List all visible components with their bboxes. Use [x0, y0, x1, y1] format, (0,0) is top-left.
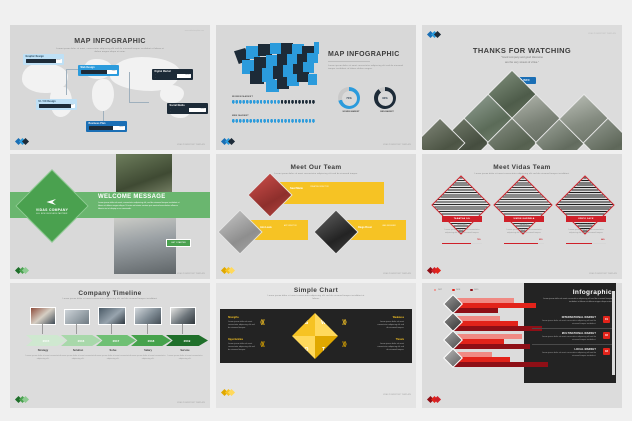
- timeline-year: 2018: [148, 339, 155, 343]
- brand-logo: [222, 389, 238, 396]
- team-desc-1: Lorem ipsum dolor sit amet consectetur a…: [442, 229, 482, 235]
- swot-opportunities-desc: Lorem ipsum dolor sit amet consectetur a…: [228, 343, 256, 353]
- timeline-desc-1: Lorem ipsum dolor sit amet consectetur a…: [24, 355, 62, 361]
- slide-meet-vidas-team[interactable]: Meet Vidas Team Lorem ipsum dolor sit am…: [422, 154, 622, 279]
- timeline-photo-2: [64, 309, 90, 325]
- timeline-label-4: Salary: [129, 349, 167, 352]
- slide-meet-our-team[interactable]: Meet Our Team Lorem ipsum dolor sit amet…: [216, 154, 416, 279]
- timeline-arrow-2016[interactable]: 2016: [61, 335, 101, 346]
- welcome-title: WELCOME MESSAGE: [98, 194, 184, 200]
- member-photo-3: [313, 209, 358, 254]
- legend-label: 2018: [456, 289, 460, 291]
- team-role-1: DESIGNER: [442, 224, 482, 226]
- swot-threats-desc: Lorem ipsum dolor sit amet consectetur a…: [376, 343, 404, 353]
- slide-topright-note: www.vidastemplate.com: [185, 30, 204, 32]
- timeline-desc-3: Lorem ipsum dolor sit amet consectetur a…: [94, 355, 132, 361]
- map-tag-bar: 68%: [89, 126, 125, 129]
- welcome-body: Lorem ipsum dolor sit amet, consectetur …: [98, 202, 184, 212]
- donut-label: MEN MARKET: [374, 111, 400, 114]
- chevron-right-icon: ⟩⟩⟩: [342, 319, 346, 326]
- chevron-right-icon: ⟩⟩⟩: [342, 341, 346, 348]
- timeline-label-3: Solve: [94, 349, 132, 352]
- page-title: MAP INFOGRAPHIC: [328, 51, 400, 58]
- team-role-2: MANAGER: [504, 224, 544, 226]
- map-tag-business-plan[interactable]: Business Plan 68%: [86, 121, 127, 132]
- map-tag-value: 55%: [200, 108, 204, 110]
- get-started-button-wrap: GET STARTED: [166, 230, 191, 248]
- timeline-year: 2019: [184, 339, 191, 343]
- market-title-3: LOCAL MARKET: [532, 348, 596, 351]
- connector: [147, 324, 148, 334]
- page-subtitle: Lorem ipsum dolor sit amet consectetur a…: [52, 298, 168, 301]
- slide-credit: VIDAS POWERPOINT TEMPLATE: [177, 273, 205, 275]
- brand-logo: [222, 267, 238, 274]
- map-tag-bar: 62%: [155, 74, 191, 77]
- member-name-1: Saul Marie: [290, 187, 303, 190]
- stat-dots: [232, 119, 315, 124]
- quote-line-2: are the very sinews of virtue.": [422, 61, 622, 64]
- page-title: Meet Vidas Team: [422, 164, 622, 171]
- page-title: Simple Chart: [216, 287, 416, 294]
- company-tagline: ALL NEW BUSINESS PARTNER: [36, 213, 67, 215]
- slide-infographic[interactable]: 2017 2018 2019: [422, 283, 622, 408]
- map-tag-label: UI / UX Design: [39, 101, 75, 103]
- stat-label: WOMEN MARKET: [232, 96, 315, 98]
- stat-men-market: MEN MARKET: [232, 115, 315, 123]
- slide-welcome-message[interactable]: VIDAS COMPANY ALL NEW BUSINESS PARTNER W…: [10, 154, 210, 279]
- member-role-1: CREATIVE DIRECTOR: [310, 186, 380, 189]
- team-name-1: TABATHA GIL: [442, 216, 482, 222]
- page-subtitle: Lorem ipsum dolor sit amet consectetur a…: [534, 298, 612, 304]
- market-desc-2: Lorem ipsum dolor sit amet consectetur a…: [534, 336, 596, 342]
- stat-dots: [232, 100, 315, 105]
- timeline-arrow-2018[interactable]: 2018: [131, 335, 171, 346]
- member-name-2: Ann Louis: [260, 226, 272, 229]
- chevron-left-icon: ⟨⟨⟨: [260, 341, 264, 348]
- get-started-button[interactable]: GET STARTED: [166, 239, 191, 247]
- map-tag-value: 74%: [111, 70, 115, 72]
- page-subtitle: Lorem ipsum dolor sit amet consectetur a…: [328, 65, 404, 72]
- map-tag-bar: 91%: [39, 104, 75, 107]
- swot-strengths-desc: Lorem ipsum dolor sit amet consectetur a…: [228, 321, 256, 331]
- market-number-3: 03: [603, 348, 610, 355]
- slide-thanks-for-watching[interactable]: VIDAS POWERPOINT TEMPLATE THANKS FOR WAT…: [422, 25, 622, 150]
- timeline-label-1: Strategy: [24, 349, 62, 352]
- leader-line: [129, 72, 130, 102]
- map-tag-ui-ux-design[interactable]: UI / UX Design 91%: [36, 99, 77, 110]
- page-title: MAP INFOGRAPHIC: [10, 38, 210, 45]
- member-role-2: ART DIRECTOR: [284, 225, 306, 228]
- leader-line: [66, 69, 67, 95]
- timeline-year: 2016: [78, 339, 85, 343]
- map-tag-value: 68%: [119, 126, 123, 128]
- company-diamond: VIDAS COMPANY ALL NEW BUSINESS PARTNER: [15, 169, 89, 243]
- panel-edge: [612, 291, 615, 375]
- team-role-3: CEO FOUNDER: [566, 224, 606, 226]
- connector: [111, 324, 112, 334]
- slide-credit: VIDAS POWERPOINT TEMPLATE: [383, 144, 411, 146]
- brand-logo: [428, 396, 444, 403]
- slide-company-timeline[interactable]: Company Timeline Lorem ipsum dolor sit a…: [10, 283, 210, 408]
- timeline-year: 2015: [43, 339, 50, 343]
- page-title: THANKS FOR WATCHING: [422, 46, 622, 55]
- brand-logo: [222, 138, 238, 145]
- team-pct-3: 64%: [601, 239, 605, 241]
- timeline-year: 2017: [113, 339, 120, 343]
- swot-strengths-title: Strengths: [228, 317, 256, 319]
- brand-logo: [16, 267, 32, 274]
- swot-weakness-title: Weakness: [376, 317, 404, 319]
- map-tag-value: 85%: [56, 59, 60, 61]
- donut-women-market: 71% WOMEN MARKET: [338, 87, 364, 114]
- brand-logo: [428, 267, 444, 274]
- page-subtitle: Lorem ipsum dolor sit amet, consectetur …: [55, 48, 165, 55]
- welcome-text-block: WELCOME MESSAGE Lorem ipsum dolor sit am…: [98, 194, 184, 212]
- connector: [182, 324, 183, 334]
- market-title-1: INTERNATIONAL MARKET: [532, 316, 596, 319]
- donut-men-market: 90% MEN MARKET: [374, 87, 400, 114]
- timeline-photo-1: [30, 307, 56, 325]
- slide-credit: VIDAS POWERPOINT TEMPLATE: [177, 402, 205, 404]
- legend-label: 2019: [474, 289, 478, 291]
- title-rule: [328, 61, 370, 62]
- slide-map-infographic-world[interactable]: www.vidastemplate.com MAP INFOGRAPHIC Lo…: [10, 25, 210, 150]
- swot-threats-title: Threats: [376, 339, 404, 341]
- quote-line-1: "Good company and good discourse: [422, 56, 622, 59]
- team-pct-2: 85%: [539, 239, 543, 241]
- swot-opportunities-title: Opportunities: [228, 339, 256, 341]
- market-number-2: 02: [603, 332, 610, 339]
- chevron-left-icon: ⟨⟨⟨: [260, 319, 264, 326]
- timeline-desc-2: Lorem ipsum dolor sit amet consectetur a…: [59, 355, 97, 361]
- member-name-3: Diego Rossi: [358, 226, 372, 229]
- brand-logo: [16, 138, 32, 145]
- market-number-1: 01: [603, 316, 610, 323]
- map-tag-web-design[interactable]: Web Design 74%: [78, 65, 119, 76]
- slide-credit: VIDAS POWERPOINT TEMPLATE: [383, 273, 411, 275]
- timeline-arrow-2017[interactable]: 2017: [96, 335, 136, 346]
- company-name: VIDAS COMPANY: [36, 208, 68, 212]
- member-role-3: LEAD DESIGNER: [382, 225, 404, 228]
- member-photo-2: [217, 209, 262, 254]
- leader-line: [129, 102, 149, 103]
- map-tag-label: Digital Market: [155, 71, 191, 73]
- market-title-2: MULTINATIONAL MARKET: [532, 332, 596, 335]
- page-title: Infographic: [530, 289, 612, 296]
- map-tag-label: Web Design: [81, 67, 117, 69]
- team-name-3: ERICK JACK: [566, 216, 606, 222]
- map-tag-bar: 85%: [26, 59, 62, 62]
- slide-credit: VIDAS POWERPOINT TEMPLATE: [383, 394, 411, 396]
- timeline-photo-5: [170, 307, 196, 325]
- map-tag-value: 62%: [185, 74, 189, 76]
- page-title: Company Timeline: [10, 290, 210, 297]
- timeline-photo-3: [98, 307, 126, 325]
- usa-map-graphic: [232, 40, 324, 90]
- timeline-label-5: Service: [166, 349, 204, 352]
- donut-label: WOMEN MARKET: [338, 111, 364, 114]
- map-tag-label: Social Media: [170, 105, 206, 107]
- slide-map-infographic-usa[interactable]: MAP INFOGRAPHIC Lorem ipsum dolor sit am…: [216, 25, 416, 150]
- map-tag-digital-market[interactable]: Digital Market 62%: [152, 69, 193, 80]
- map-tag-graphic-design[interactable]: Graphic Design 85%: [23, 54, 64, 65]
- connector: [42, 324, 43, 334]
- timeline-desc-5: Lorem ipsum dolor sit amet consectetur a…: [166, 355, 204, 361]
- slide-credit: VIDAS POWERPOINT TEMPLATE: [589, 273, 617, 275]
- stat-women-market: WOMEN MARKET: [232, 96, 315, 104]
- map-tag-label: Business Plan: [89, 123, 125, 125]
- slide-simple-chart-swot[interactable]: Simple Chart Lorem ipsum dolor sit amet …: [216, 283, 416, 408]
- timeline-label-2: Solution: [59, 349, 97, 352]
- page-subtitle: Lorem ipsum dolor sit amet consectetur a…: [266, 295, 366, 302]
- brand-logo: [16, 396, 32, 403]
- market-desc-3: Lorem ipsum dolor sit amet consectetur a…: [534, 352, 596, 358]
- slide-grid: www.vidastemplate.com MAP INFOGRAPHIC Lo…: [10, 25, 622, 408]
- map-tag-bar: 74%: [81, 70, 117, 73]
- team-name-2: SIMON GARDELA: [504, 216, 544, 222]
- timeline-photo-4: [134, 307, 162, 325]
- map-tag-value: 91%: [69, 104, 73, 106]
- stat-label: MEN MARKET: [232, 115, 315, 117]
- brand-logo: [428, 31, 444, 38]
- timeline-arrow-2019[interactable]: 2019: [166, 335, 208, 346]
- page-subtitle: Lorem ipsum dolor sit amet consectetur a…: [266, 173, 366, 176]
- page-title: Meet Our Team: [216, 164, 416, 171]
- connector: [76, 324, 77, 334]
- plane-icon: [46, 198, 58, 206]
- map-tag-social-media[interactable]: Social Media 55%: [167, 103, 208, 114]
- chart-legend: 2017 2018 2019: [434, 289, 478, 291]
- donut-value: 71%: [342, 91, 357, 106]
- donut-value: 90%: [378, 91, 393, 106]
- timeline-desc-4: Lorem ipsum dolor sit amet consectetur a…: [129, 355, 167, 361]
- slide-credit: VIDAS POWERPOINT TEMPLATE: [177, 144, 205, 146]
- team-pct-1: 72%: [477, 239, 481, 241]
- slide-topright-note: VIDAS POWERPOINT TEMPLATE: [588, 33, 616, 35]
- swot-weakness-desc: Lorem ipsum dolor sit amet consectetur a…: [376, 321, 404, 331]
- team-desc-3: Lorem ipsum dolor sit amet consectetur a…: [566, 229, 606, 235]
- map-tag-bar: 55%: [170, 108, 206, 111]
- legend-label: 2017: [438, 289, 442, 291]
- market-desc-1: Lorem ipsum dolor sit amet consectetur a…: [534, 320, 596, 326]
- team-desc-2: Lorem ipsum dolor sit amet consectetur a…: [504, 229, 544, 235]
- timeline-arrow-2015[interactable]: 2015: [26, 335, 66, 346]
- slide-deck-preview: www.vidastemplate.com MAP INFOGRAPHIC Lo…: [0, 0, 632, 421]
- member-photo-1: [247, 172, 292, 217]
- map-tag-label: Graphic Design: [26, 56, 62, 58]
